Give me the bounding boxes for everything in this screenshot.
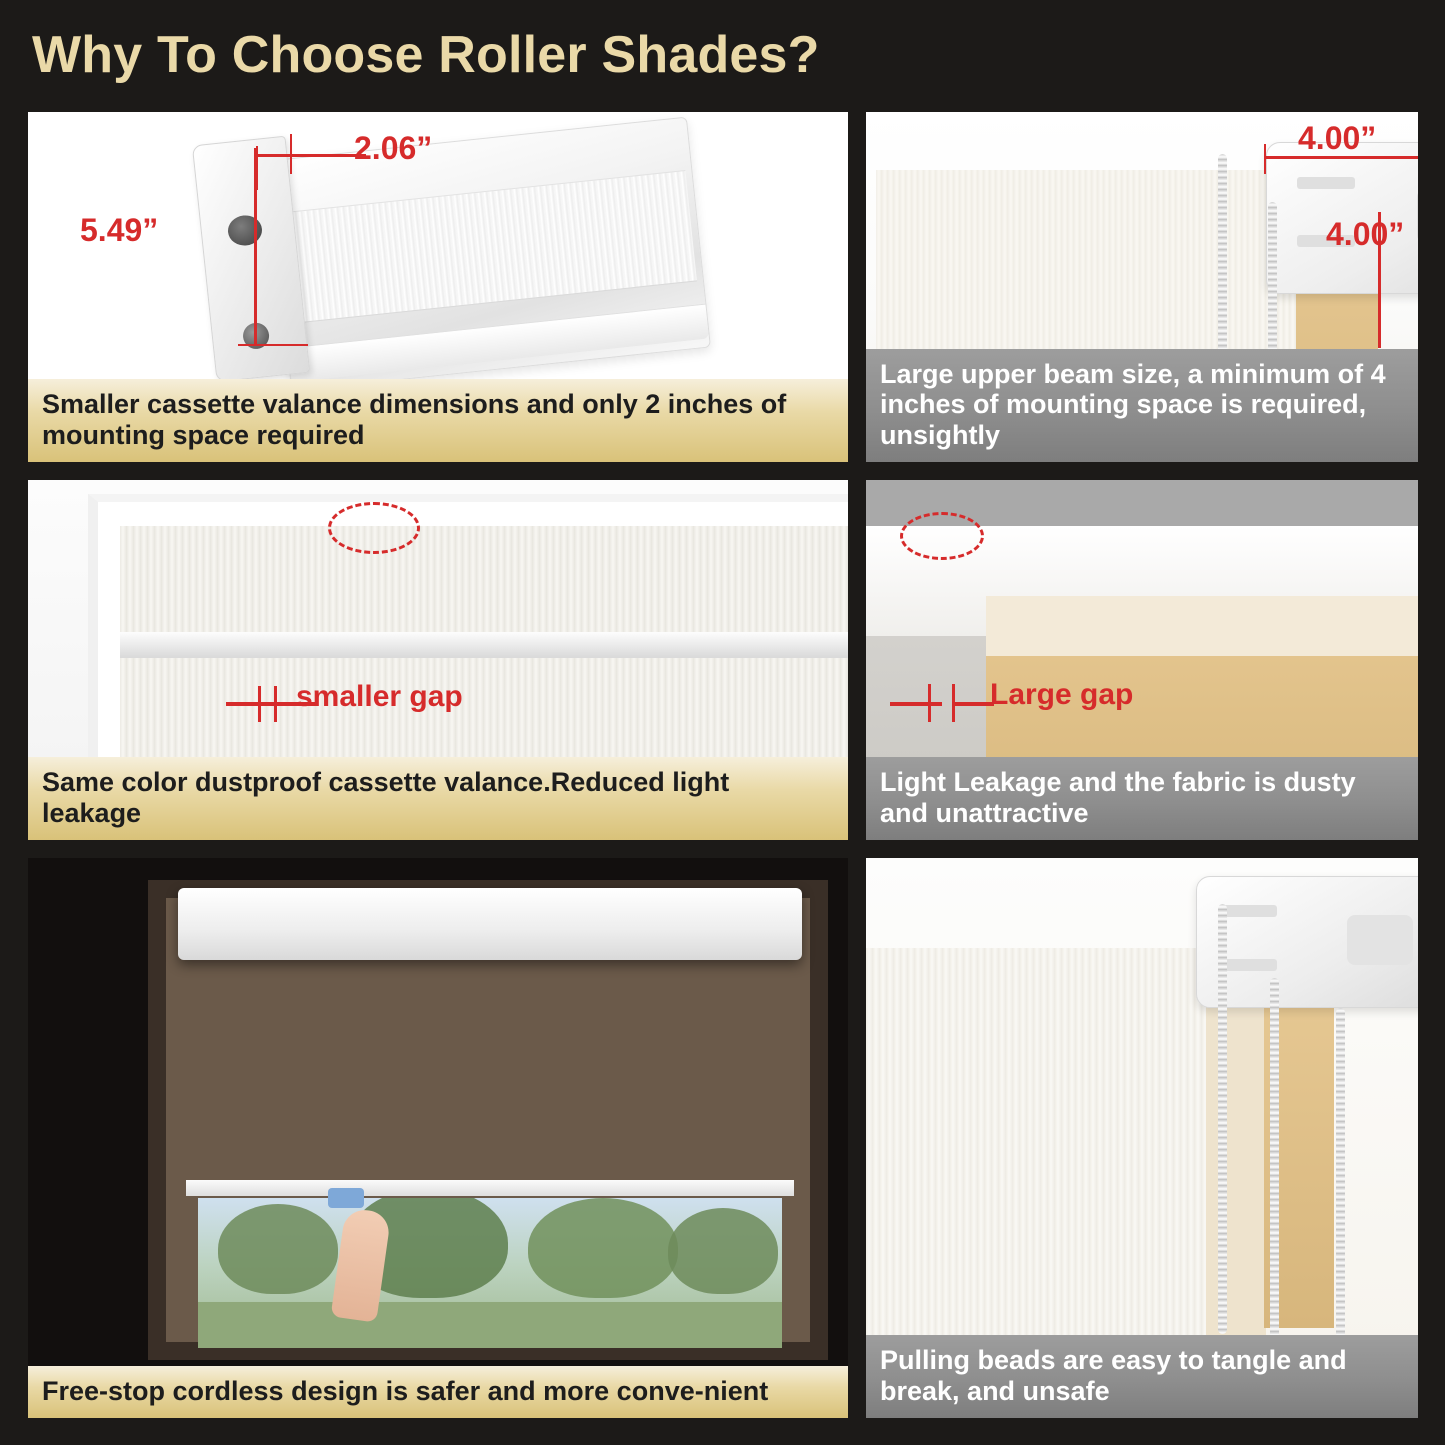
large-gap-label: Large gap: [990, 678, 1133, 712]
infographic-page: Why To Choose Roller Shades? 2.06” 5.49”…: [0, 0, 1445, 1445]
panel-smaller-gap: smaller gap Same color dustproof cassett…: [28, 480, 848, 840]
dim-arrow-height: [254, 148, 257, 344]
cassette-head-rail: [178, 888, 802, 960]
panel-large-gap: Large gap Light Leakage and the fabric i…: [866, 480, 1418, 840]
upper-beam-body: [1196, 876, 1418, 1008]
panel-5-caption: Free-stop cordless design is safer and m…: [28, 1366, 848, 1419]
shade-fabric: [186, 954, 794, 1184]
panel-2-caption: Large upper beam size, a minimum of 4 in…: [866, 349, 1418, 463]
bead-chain-loop: [1336, 1008, 1345, 1338]
panel-3-caption: Same color dustproof cassette valance.Re…: [28, 757, 848, 840]
gap-highlight-ellipse: [900, 512, 984, 560]
gap-highlight-ellipse: [328, 502, 420, 554]
panel-cassette-valance: 2.06” 5.49” Smaller cassette valance dim…: [28, 112, 848, 462]
panel-6-caption: Pulling beads are easy to tangle and bre…: [866, 1335, 1418, 1418]
panel-1-caption: Smaller cassette valance dimensions and …: [28, 379, 848, 462]
beam-depth-label: 4.00”: [1326, 216, 1404, 253]
panel-4-caption: Light Leakage and the fabric is dusty an…: [866, 757, 1418, 840]
smaller-gap-label: smaller gap: [296, 680, 463, 714]
dimension-height-label: 5.49”: [80, 212, 158, 249]
dim-tick-bottom: [238, 344, 308, 346]
dimension-width-label: 2.06”: [354, 130, 432, 167]
panel-cordless-design: Free-stop cordless design is safer and m…: [28, 858, 848, 1418]
page-title: Why To Choose Roller Shades?: [32, 22, 1032, 88]
panel-6-photo: [866, 858, 1418, 1418]
dim-arrow-width: [256, 154, 366, 157]
panel-pulling-beads: Pulling beads are easy to tangle and bre…: [866, 858, 1418, 1418]
panel-5-photo: [28, 858, 848, 1418]
grip-handle: [328, 1188, 364, 1208]
bead-chain-left: [1218, 904, 1227, 1334]
bottom-rail: [186, 1180, 794, 1196]
cassette-valance-body: [267, 117, 711, 392]
panel-large-upper-beam: 4.00” 4.00” Large upper beam size, a min…: [866, 112, 1418, 462]
bead-chain-right: [1270, 978, 1279, 1338]
beam-width-label: 4.00”: [1298, 120, 1376, 157]
window-glass: [198, 1198, 782, 1348]
bracket-hole-icon: [227, 214, 264, 247]
